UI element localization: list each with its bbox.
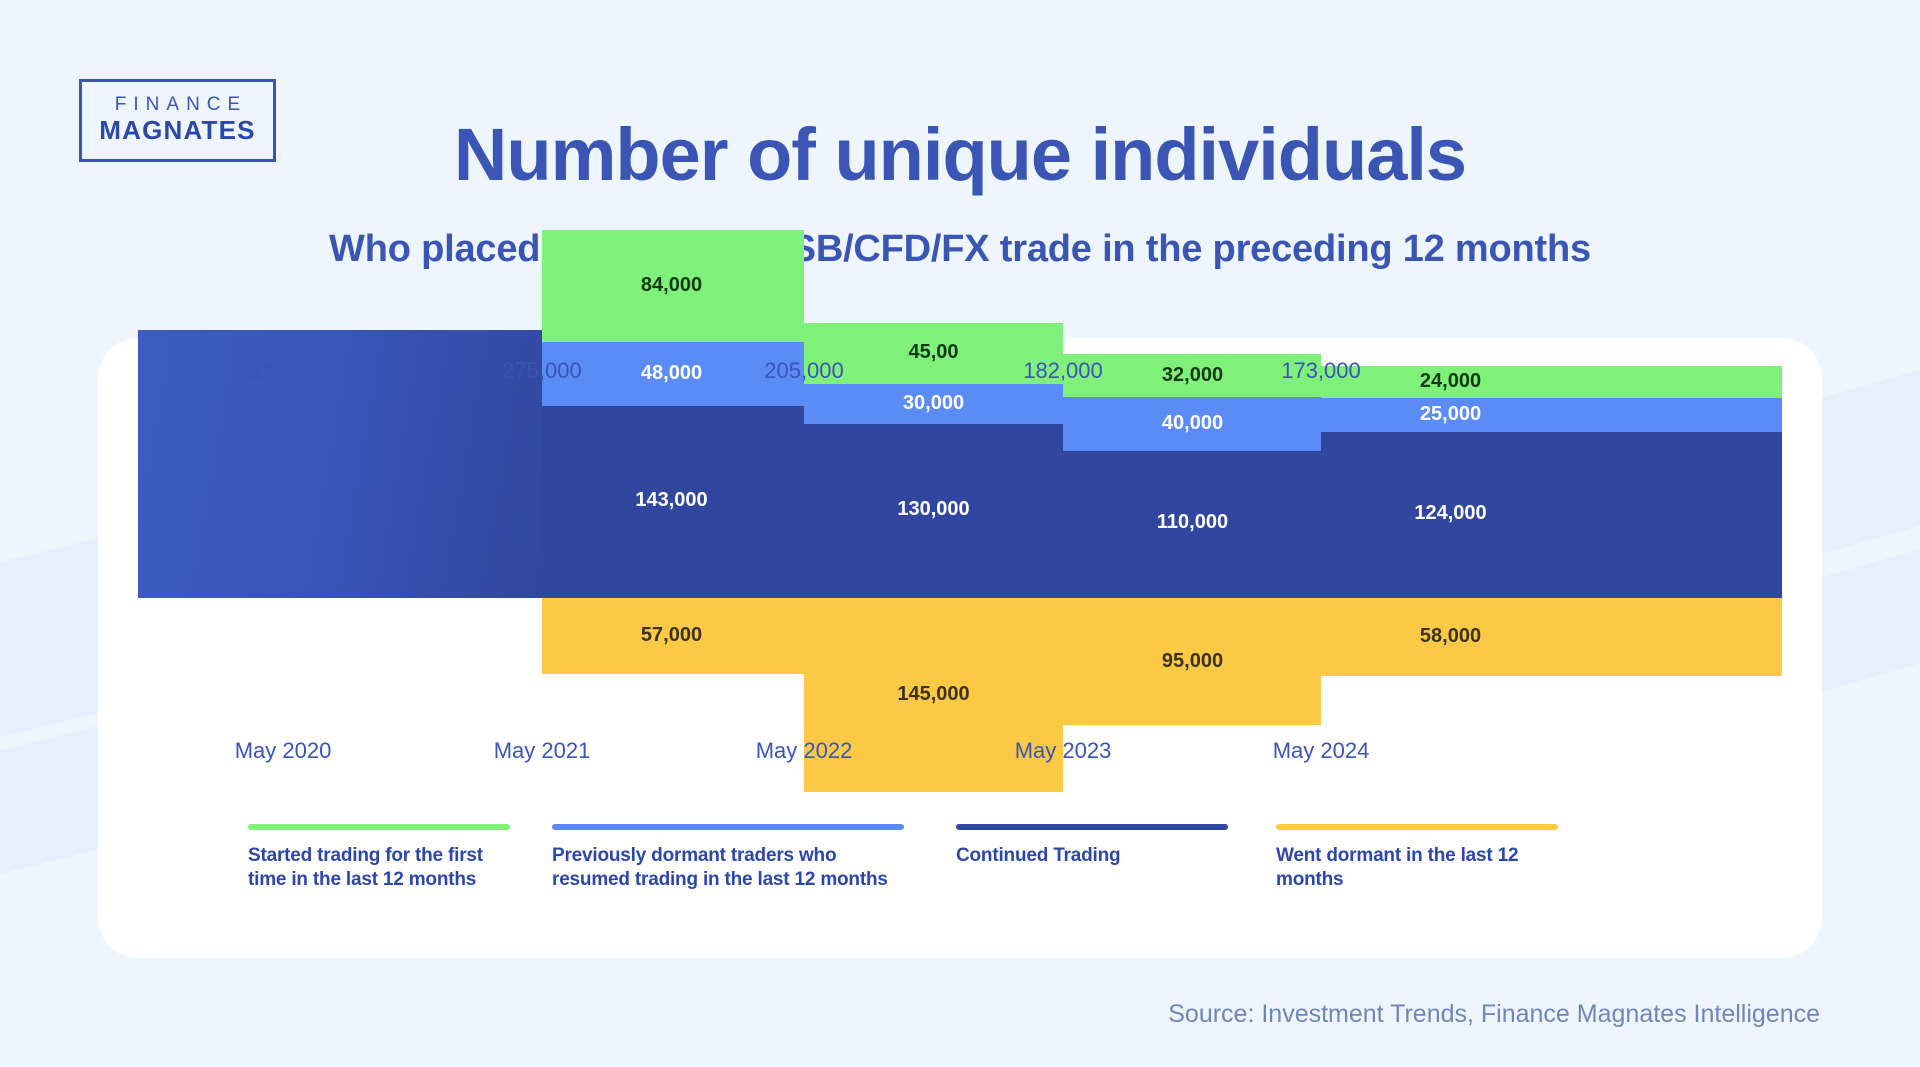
legend-color-swatch-continued	[956, 824, 1228, 830]
bar-segment-continued: 124,000	[1321, 432, 1782, 598]
segment-value-label: 145,000	[804, 683, 1063, 706]
bar-segment-continued: 143,000	[542, 406, 804, 598]
chart-legend: Started trading for the first time in th…	[148, 824, 1768, 934]
legend-item-continued[interactable]: Continued Trading	[956, 824, 1228, 868]
column-total-label: 205,000	[694, 358, 914, 384]
segment-value-label: 30,000	[804, 392, 1063, 415]
segment-value-label: 57,000	[542, 624, 801, 647]
column-total-label: 200,000	[173, 358, 393, 384]
x-axis-label: May 2024	[1211, 738, 1431, 764]
bar-segment: 40,000	[1063, 397, 1321, 451]
legend-label-new: Started trading for the first time in th…	[248, 844, 510, 892]
legend-label-resumed: Previously dormant traders who resumed t…	[552, 844, 904, 892]
bar-segment: 30,000	[804, 384, 1063, 424]
bar-segment: 95,000	[1063, 598, 1321, 725]
segment-value-label: 95,000	[1063, 650, 1322, 673]
bar-segment-continued: 110,000	[1063, 451, 1321, 598]
legend-label-dormant: Went dormant in the last 12 months	[1276, 844, 1558, 892]
segment-value-label: 84,000	[542, 274, 801, 297]
segment-value-label: 58,000	[1321, 625, 1580, 648]
x-axis-label: May 2020	[173, 738, 393, 764]
segment-value-label: 25,000	[1321, 403, 1580, 426]
legend-item-resumed[interactable]: Previously dormant traders who resumed t…	[552, 824, 904, 892]
segment-value-label: 143,000	[542, 489, 801, 512]
legend-item-new[interactable]: Started trading for the first time in th…	[248, 824, 510, 892]
x-axis-label: May 2023	[953, 738, 1173, 764]
legend-color-swatch-new	[248, 824, 510, 830]
legend-color-swatch-dormant	[1276, 824, 1558, 830]
column-total-label: 173,000	[1211, 358, 1431, 384]
segment-value-label: 40,000	[1063, 412, 1322, 435]
source-note: Source: Investment Trends, Finance Magna…	[1168, 1000, 1820, 1029]
legend-item-dormant[interactable]: Went dormant in the last 12 months	[1276, 824, 1558, 892]
column-total-label: 275,000	[432, 358, 652, 384]
x-axis-label: May 2021	[432, 738, 652, 764]
column-total-label: 182,000	[953, 358, 1173, 384]
segment-value-label: 130,000	[804, 498, 1063, 521]
logo-line-finance: FINANCE	[108, 95, 247, 116]
segment-value-label: 124,000	[1321, 502, 1580, 525]
bar-segment: 84,000	[542, 230, 804, 343]
segment-value-label: 110,000	[1063, 511, 1322, 534]
bar-segment: 25,000	[1321, 398, 1782, 432]
bar-segment-continued: 130,000	[804, 424, 1063, 598]
bar-segment: 58,000	[1321, 598, 1782, 676]
legend-color-swatch-resumed	[552, 824, 904, 830]
bar-segment: 57,000	[542, 598, 804, 674]
page-title: Number of unique individuals	[0, 118, 1920, 192]
chart-card: 143,00048,00084,00057,000130,00030,00045…	[98, 338, 1822, 958]
page-subtitle: Who placed at least one FSB/CFD/FX trade…	[0, 228, 1920, 271]
legend-label-continued: Continued Trading	[956, 844, 1228, 868]
x-axis-label: May 2022	[694, 738, 914, 764]
